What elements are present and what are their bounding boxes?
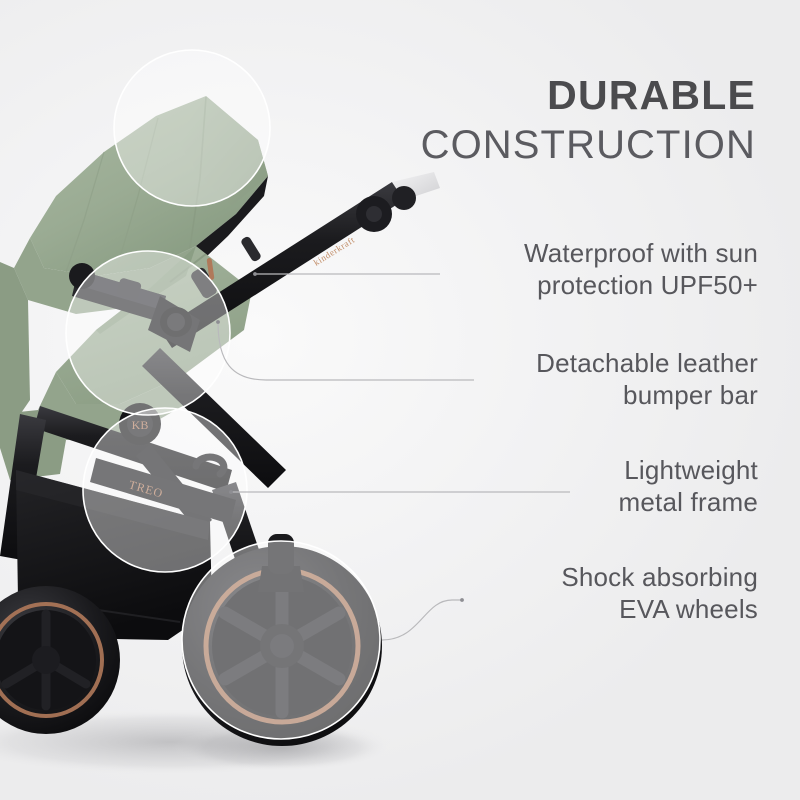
- page-title: DURABLE CONSTRUCTION: [421, 74, 756, 168]
- seat-unit: [0, 246, 252, 480]
- feature-wheels-line1: Shock absorbing: [561, 562, 758, 594]
- feature-callout-frame: Lightweight metal frame: [619, 455, 758, 518]
- canopy: [0, 96, 268, 432]
- title-line-construction: CONSTRUCTION: [421, 123, 756, 168]
- feature-callout-bumper-bar: Detachable leather bumper bar: [536, 348, 758, 411]
- feature-callout-wheels: Shock absorbing EVA wheels: [561, 562, 758, 625]
- feature-frame-line2: metal frame: [619, 487, 758, 519]
- hub-logo: KB: [132, 418, 149, 432]
- rear-wheel: [0, 586, 120, 734]
- bumper-bar-highlight-circle: [66, 251, 230, 415]
- ground-shadow-front: [172, 724, 392, 772]
- ground-shadow: [0, 708, 400, 776]
- frame-highlight-circle: [83, 408, 247, 572]
- infographic-canvas: KB TREO: [0, 0, 800, 800]
- front-wheel: [182, 534, 382, 746]
- feature-canopy-line2: protection UPF50+: [524, 270, 758, 302]
- handlebar-brand-logo: kinderkraft: [312, 235, 357, 268]
- frame: KB TREO: [0, 172, 440, 598]
- model-brandmark: TREO: [127, 477, 165, 500]
- feature-bumper-line2: bumper bar: [536, 380, 758, 412]
- feature-bumper-line1: Detachable leather: [536, 348, 758, 380]
- wheel-highlight-circle: [182, 541, 380, 739]
- feature-canopy-line1: Waterproof with sun: [524, 238, 758, 270]
- leader-line-wheels: [382, 600, 462, 640]
- wheel-spokes: [225, 580, 339, 712]
- leader-line-bumper-bar: [218, 322, 474, 380]
- feature-frame-line1: Lightweight: [619, 455, 758, 487]
- canopy-highlight-circle: [114, 50, 270, 206]
- title-line-durable: DURABLE: [421, 74, 756, 117]
- shopping-basket: [16, 470, 212, 640]
- feature-callout-canopy: Waterproof with sun protection UPF50+: [524, 238, 758, 301]
- feature-wheels-line2: EVA wheels: [561, 594, 758, 626]
